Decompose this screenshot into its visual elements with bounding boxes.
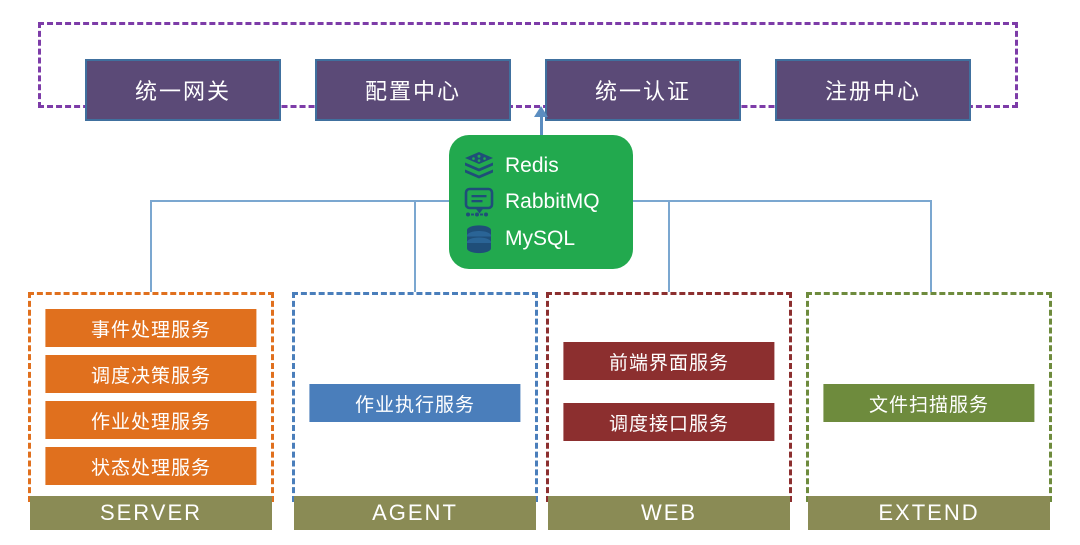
group-label-text: EXTEND (878, 500, 979, 526)
service-label: 作业处理服务 (91, 407, 211, 434)
middleware-box: Redis RabbitMQ (449, 135, 633, 269)
middleware-item-rabbitmq[interactable]: RabbitMQ (463, 185, 633, 219)
service-box-status-processing[interactable]: 状态处理服务 (45, 447, 256, 485)
group-label-agent: AGENT (294, 496, 536, 530)
service-box-scheduling-api[interactable]: 调度接口服务 (563, 403, 774, 441)
group-label-text: AGENT (372, 500, 458, 526)
architecture-diagram: 统一网关 配置中心 统一认证 注册中心 (0, 0, 1080, 545)
platform-box-gateway[interactable]: 统一网关 (85, 59, 281, 121)
group-extend: 文件扫描服务 (806, 292, 1052, 502)
group-label-web: WEB (548, 496, 790, 530)
connector-drop-server (150, 200, 152, 292)
group-agent: 作业执行服务 (292, 292, 538, 502)
platform-layer-container: 统一网关 配置中心 统一认证 注册中心 (38, 22, 1018, 108)
group-label-text: SERVER (100, 500, 202, 526)
group-label-text: WEB (641, 500, 697, 526)
platform-box-config-center[interactable]: 配置中心 (315, 59, 511, 121)
service-label: 作业执行服务 (355, 390, 475, 417)
service-box-job-execution[interactable]: 作业执行服务 (309, 384, 520, 422)
middleware-to-platform-arrow-head (534, 106, 548, 117)
platform-box-auth[interactable]: 统一认证 (545, 59, 741, 121)
group-label-server: SERVER (30, 496, 272, 530)
platform-box-label: 注册中心 (825, 74, 921, 106)
group-server: 事件处理服务 调度决策服务 作业处理服务 状态处理服务 (28, 292, 274, 502)
connector-bus-left (150, 200, 450, 202)
middleware-item-mysql[interactable]: MySQL (463, 222, 633, 256)
platform-box-label: 统一网关 (135, 74, 231, 106)
middleware-item-label: MySQL (505, 228, 575, 249)
group-label-extend: EXTEND (808, 496, 1050, 530)
platform-box-label: 配置中心 (365, 74, 461, 106)
rabbitmq-message-icon (463, 186, 495, 218)
service-label: 调度接口服务 (609, 409, 729, 436)
group-web: 前端界面服务 调度接口服务 (546, 292, 792, 502)
mysql-database-icon (463, 223, 495, 255)
service-box-job-processing[interactable]: 作业处理服务 (45, 401, 256, 439)
service-box-event-processing[interactable]: 事件处理服务 (45, 309, 256, 347)
service-box-frontend-ui[interactable]: 前端界面服务 (563, 342, 774, 380)
connector-drop-web (668, 200, 670, 292)
connector-drop-extend (930, 200, 932, 292)
platform-box-registry[interactable]: 注册中心 (775, 59, 971, 121)
service-label: 前端界面服务 (609, 348, 729, 375)
connector-drop-agent (414, 200, 416, 292)
service-label: 状态处理服务 (91, 453, 211, 480)
service-label: 事件处理服务 (91, 315, 211, 342)
service-label: 调度决策服务 (91, 361, 211, 388)
connector-bus-right (632, 200, 930, 202)
service-box-scheduling-decision[interactable]: 调度决策服务 (45, 355, 256, 393)
platform-box-label: 统一认证 (595, 74, 691, 106)
middleware-item-label: Redis (505, 155, 559, 176)
service-label: 文件扫描服务 (869, 390, 989, 417)
middleware-item-label: RabbitMQ (505, 191, 600, 212)
middleware-item-redis[interactable]: Redis (463, 148, 633, 182)
redis-layers-icon (463, 149, 495, 181)
service-box-file-scan[interactable]: 文件扫描服务 (823, 384, 1034, 422)
